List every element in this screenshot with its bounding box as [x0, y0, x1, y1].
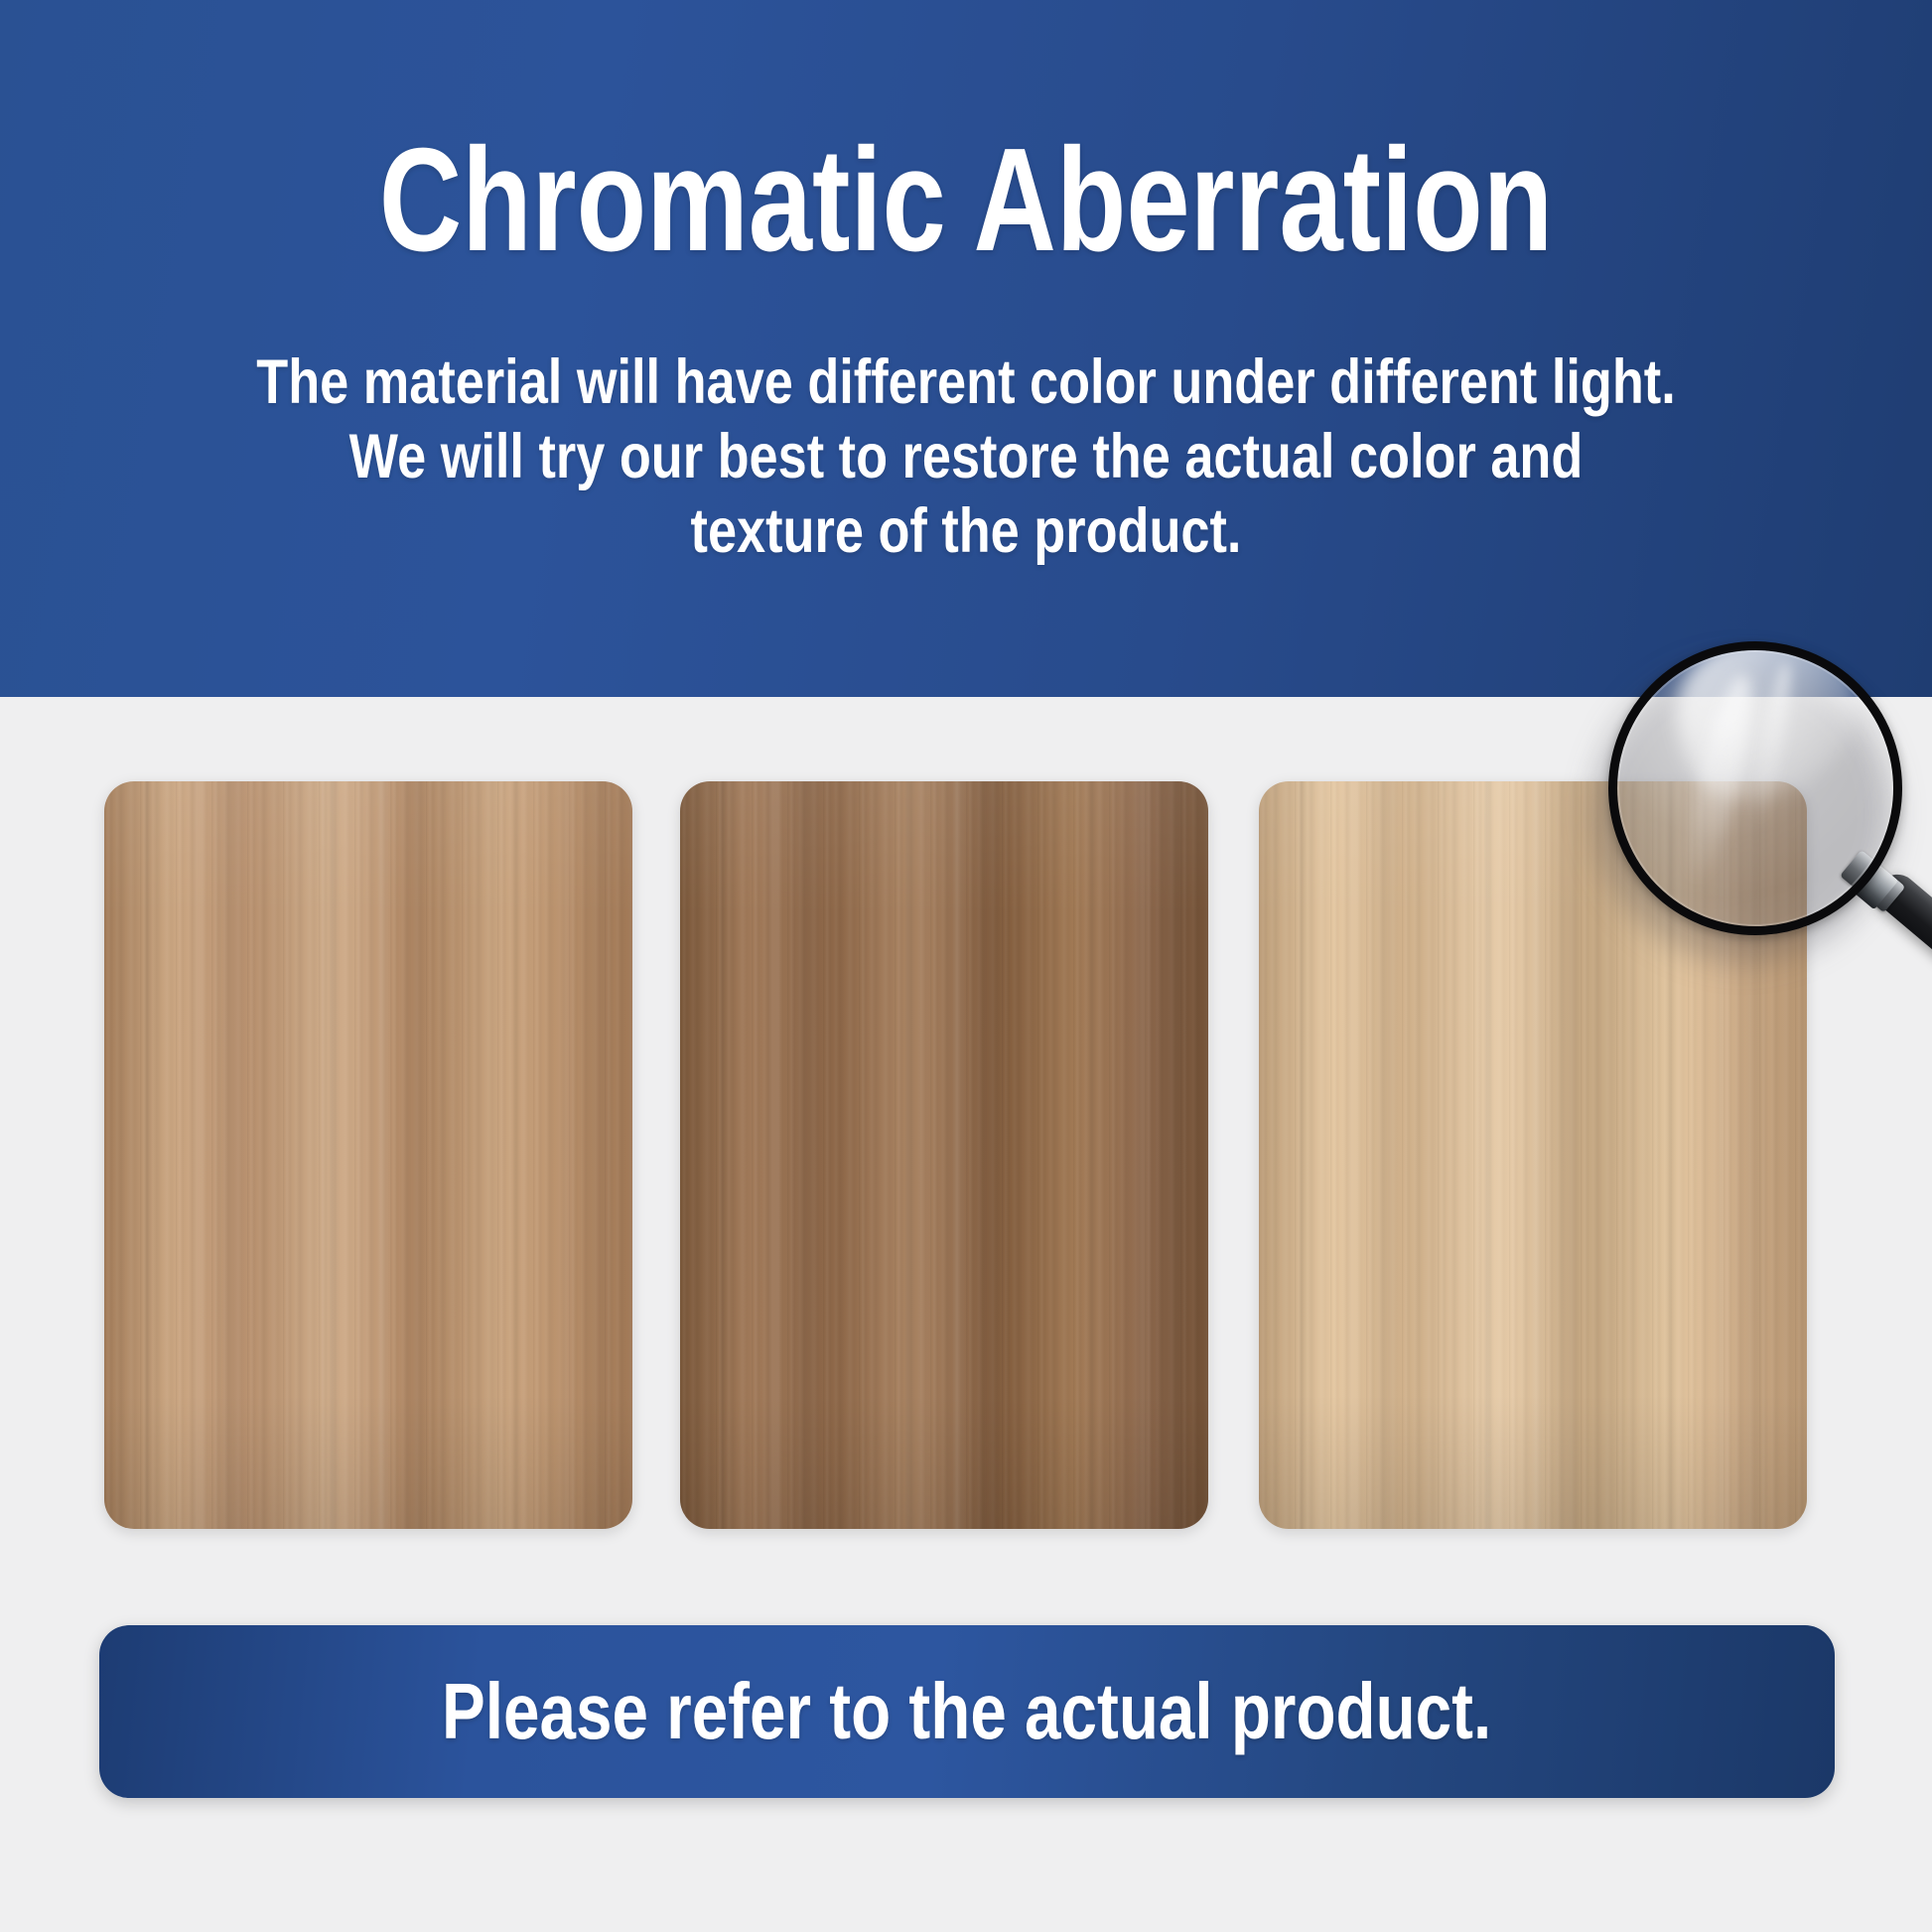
cta-banner[interactable]: Please refer to the actual product. [99, 1625, 1835, 1798]
subtitle-line-2: We will try our best to restore the actu… [246, 420, 1685, 494]
subtitle-line-1: The material will have different color u… [246, 345, 1685, 420]
subtitle-line-3: texture of the product. [246, 494, 1685, 569]
cta-label: Please refer to the actual product. [442, 1672, 1491, 1751]
header-subtitle: The material will have different color u… [246, 345, 1685, 569]
wood-grain-texture [680, 781, 1208, 1529]
wood-swatch-dark-brown [680, 781, 1208, 1529]
promo-banner: Chromatic Aberration The material will h… [0, 0, 1932, 1932]
wood-grain-texture [1259, 781, 1807, 1529]
wood-grain-texture [104, 781, 632, 1529]
wood-swatch-row [0, 781, 1932, 1529]
page-title: Chromatic Aberration [212, 127, 1720, 274]
header-section: Chromatic Aberration The material will h… [0, 0, 1932, 697]
wood-swatch-light-warm [104, 781, 632, 1529]
wood-swatch-pale-blonde [1259, 781, 1807, 1529]
